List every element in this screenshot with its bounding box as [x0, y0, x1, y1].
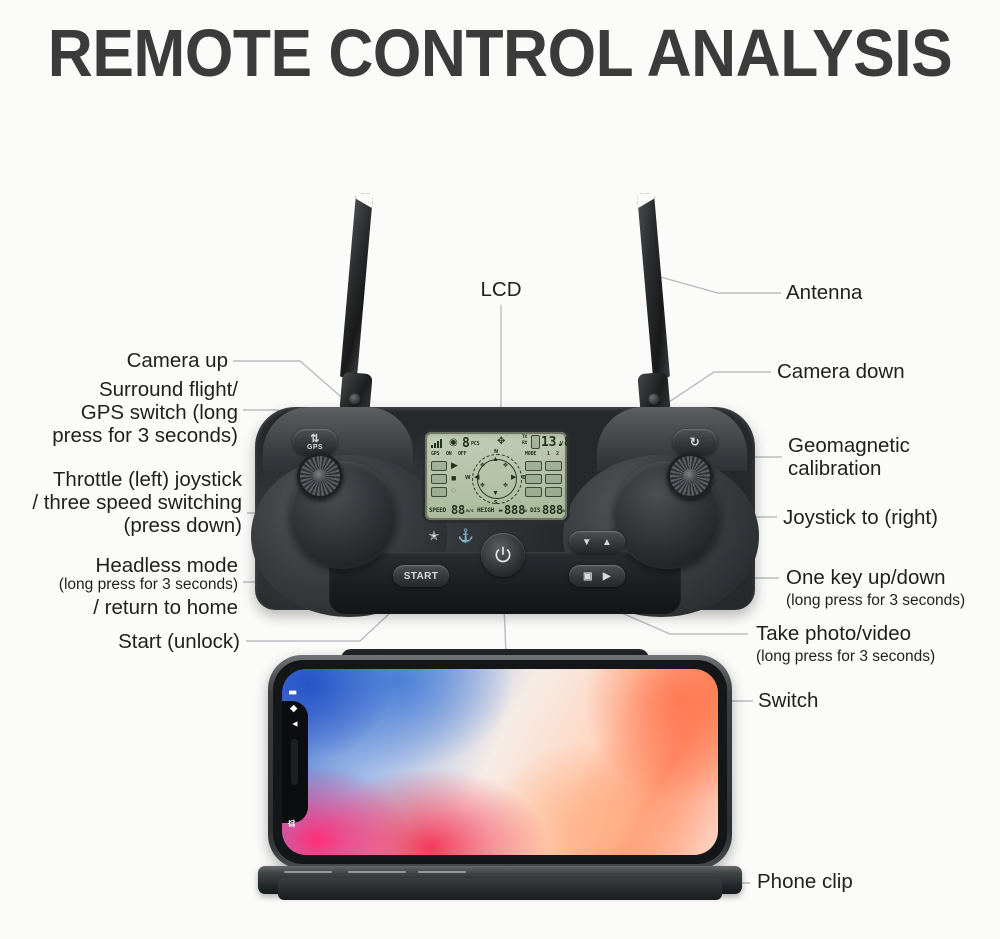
gps-on-label: ON: [446, 451, 452, 457]
left-hinge-screw: [348, 392, 362, 406]
gps-off-label: OFF: [458, 451, 466, 457]
distance-label: DIS: [530, 507, 540, 514]
mounted-smartphone: ▮ ◆ ▲ ⚖: [268, 655, 732, 869]
callout-headless-sub: (long press for 3 seconds): [0, 576, 238, 594]
clip-line-3: [418, 871, 466, 873]
left-antenna[interactable]: [340, 193, 373, 379]
power-icon: [493, 545, 513, 565]
battery-icon: ▮: [287, 690, 298, 695]
voltage-value: 13.8: [541, 435, 567, 450]
page-title: REMOTE CONTROL ANALYSIS: [35, 16, 965, 92]
lcd-screen: ◉ 8 PCS ✥ TX RX 13.8 V GPS ON OFF MODE 1…: [425, 432, 567, 520]
remote-controller: ◉ 8 PCS ✥ TX RX 13.8 V GPS ON OFF MODE 1…: [245, 185, 765, 665]
height-unit: m: [524, 509, 527, 514]
gear-icon: ◌: [451, 486, 456, 495]
mode-label: MODE: [525, 451, 536, 457]
signal-bars-icon: [431, 439, 443, 448]
geomagnetic-calibration-button[interactable]: ↻: [673, 429, 717, 455]
one-key-up-down-button[interactable]: ▼ ▲: [569, 531, 625, 553]
gps-button-label: GPS: [307, 444, 323, 451]
right-joystick[interactable]: [667, 453, 713, 499]
right-antenna[interactable]: [637, 193, 670, 379]
callout-one-key-sub: (long press for 3 seconds): [786, 592, 965, 610]
callout-camera-down: Camera down: [777, 360, 905, 383]
compass-arrow-sw: ✥: [480, 482, 485, 489]
callout-camera-up: Camera up: [0, 349, 228, 372]
battery-icon: [531, 435, 540, 449]
headless-mode-button[interactable]: ✭: [423, 525, 445, 547]
compass-arrow-nw: ✥: [480, 462, 485, 469]
compass-north: N: [494, 449, 498, 455]
mode-1: 1: [547, 451, 550, 457]
take-photo-video-button[interactable]: ▣ ▶: [569, 565, 625, 587]
lcd-box-r3: [525, 474, 542, 484]
speed-value: 88: [451, 503, 465, 517]
callout-surround-flight: Surround flight/ GPS switch (long press …: [0, 378, 238, 447]
callout-take-photo: Take photo/video: [756, 622, 911, 645]
surround-flight-icon: ⇅: [310, 434, 320, 444]
compass-arrow-e: ▶: [511, 473, 516, 481]
lcd-box-r2: [545, 461, 562, 471]
start-button-label: START: [404, 571, 439, 582]
calibration-icon: ↻: [690, 435, 700, 449]
satellite-icon: ◉: [449, 437, 458, 448]
lcd-box-r6: [545, 487, 562, 497]
headless-icon: ✭: [429, 528, 440, 544]
power-switch-button[interactable]: [481, 533, 525, 577]
satellite-count: 8: [462, 436, 470, 451]
clip-line-1: [284, 871, 332, 873]
callout-geomagnetic: Geomagnetic calibration: [788, 434, 910, 480]
voltage-unit: V: [560, 441, 563, 447]
tx-label: TX: [522, 435, 527, 440]
callout-antenna: Antenna: [786, 281, 862, 304]
compass-arrow-se: ✥: [503, 482, 508, 489]
lcd-box-r4: [545, 474, 562, 484]
lcd-box-r5: [525, 487, 542, 497]
camera-icon: ▣: [583, 571, 593, 582]
compass-arrow-s: ▼: [492, 490, 499, 497]
lcd-box-2: [431, 474, 447, 484]
callout-take-photo-sub: (long press for 3 seconds): [756, 648, 935, 666]
return-to-home-icon: ⚓: [458, 528, 474, 544]
compass-needle-icon: ✥: [497, 436, 505, 447]
compass-arrow-ne: ✥: [503, 462, 508, 469]
speed-label: SPEED: [429, 507, 446, 514]
photo-camera-icon: ■: [451, 473, 456, 483]
callout-headless-sub2: / return to home: [0, 596, 238, 619]
phone-screen[interactable]: ▮ ◆ ▲ ⚖: [282, 669, 718, 855]
lcd-box-r1: [525, 461, 542, 471]
right-hinge-screw: [647, 392, 661, 406]
return-to-home-button[interactable]: ⚓: [455, 525, 477, 547]
up-arrow-icon: ▲: [602, 537, 612, 548]
gps-label: GPS: [431, 451, 439, 457]
signal-icon: ▲: [289, 720, 299, 729]
gps-switch-button[interactable]: ⇅ GPS: [293, 429, 337, 455]
down-arrow-icon: ▼: [582, 537, 592, 548]
status-icons: ⚖: [287, 819, 298, 827]
callout-throttle: Throttle (left) joystick / three speed s…: [0, 468, 242, 537]
callout-switch: Switch: [758, 689, 818, 712]
compass-east: E: [522, 475, 525, 481]
video-camera-icon: ▶: [451, 460, 458, 471]
compass-west: W: [465, 475, 471, 481]
callout-one-key: One key up/down: [786, 566, 946, 589]
height-label: HEIGH: [477, 507, 494, 514]
callout-phone-clip: Phone clip: [757, 870, 853, 893]
phone-earpiece: [291, 739, 298, 785]
poster-canvas: REMOTE CONTROL ANALYSIS: [0, 0, 1000, 939]
phone-clip-base: [278, 878, 722, 900]
start-unlock-button[interactable]: START: [393, 565, 449, 587]
satellite-unit: PCS: [471, 441, 479, 447]
wifi-icon: ◆: [288, 705, 299, 712]
rx-label: RX: [522, 441, 527, 446]
lcd-box-1: [431, 461, 447, 471]
compass-arrow-n: ▲: [492, 456, 499, 463]
mode-2: 2: [556, 451, 559, 457]
callout-joystick-right: Joystick to (right): [783, 506, 938, 529]
video-icon: ▶: [603, 571, 611, 582]
height-value: -888: [497, 503, 525, 517]
distance-value: 888: [542, 503, 563, 517]
left-joystick[interactable]: [297, 453, 343, 499]
speed-unit: m/s: [466, 509, 474, 514]
compass-arrow-w: ◀: [474, 473, 479, 481]
callout-start: Start (unlock): [0, 630, 240, 653]
lcd-box-3: [431, 487, 447, 497]
distance-unit: m: [562, 509, 565, 514]
phone-bezel: ▮ ◆ ▲ ⚖: [273, 660, 727, 864]
callout-headless: Headless mode: [0, 554, 238, 577]
clip-line-2: [348, 871, 406, 873]
